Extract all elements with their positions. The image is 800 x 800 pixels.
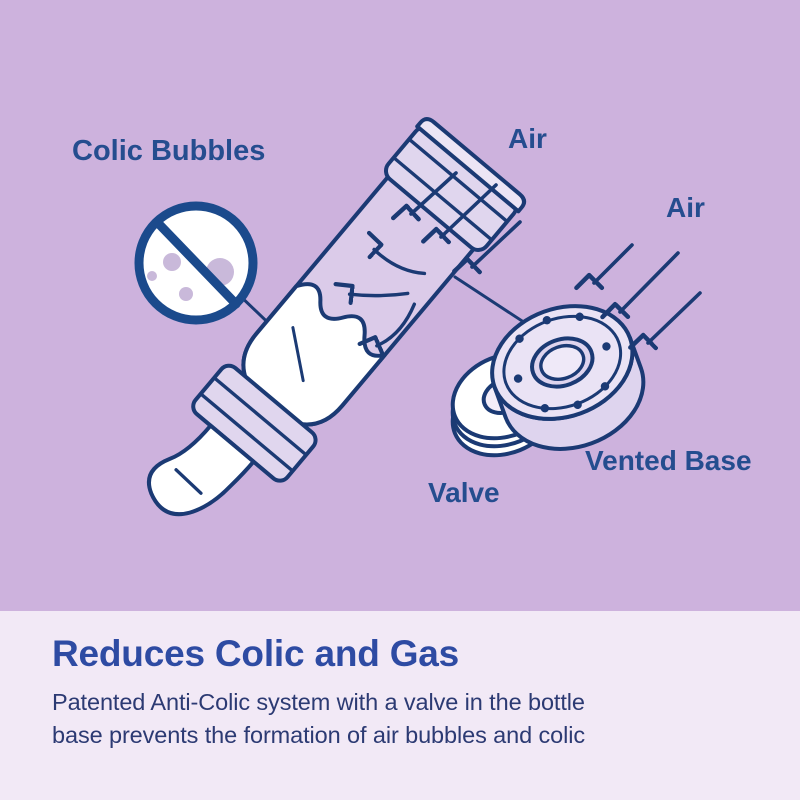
- label-air-right: Air: [666, 192, 705, 223]
- label-colic-bubbles: Colic Bubbles: [72, 135, 265, 167]
- bottle-diagram: Colic Bubbles Air Air Valve Vented Base: [0, 0, 800, 611]
- label-vented-base: Vented Base: [585, 445, 752, 476]
- label-air-top: Air: [508, 123, 547, 154]
- air-arrow-right-2: [620, 253, 678, 312]
- illustration-panel: Colic Bubbles Air Air Valve Vented Base: [0, 0, 800, 611]
- bubble-1: [163, 253, 181, 271]
- caption-body-line-1: Patented Anti-Colic system with a valve …: [52, 686, 754, 719]
- air-arrow-right-3: [648, 293, 700, 343]
- label-valve: Valve: [428, 477, 500, 508]
- caption-body-line-2: base prevents the formation of air bubbl…: [52, 719, 754, 752]
- caption-panel: Reduces Colic and Gas Patented Anti-Coli…: [0, 611, 800, 800]
- bubble-4: [147, 271, 157, 281]
- air-arrow-right-1: [594, 245, 632, 283]
- no-colic-bubbles-badge: [136, 205, 254, 326]
- page-title: Reduces Colic and Gas: [52, 635, 754, 674]
- infographic-page: Colic Bubbles Air Air Valve Vented Base …: [0, 0, 800, 800]
- bubble-3: [179, 287, 193, 301]
